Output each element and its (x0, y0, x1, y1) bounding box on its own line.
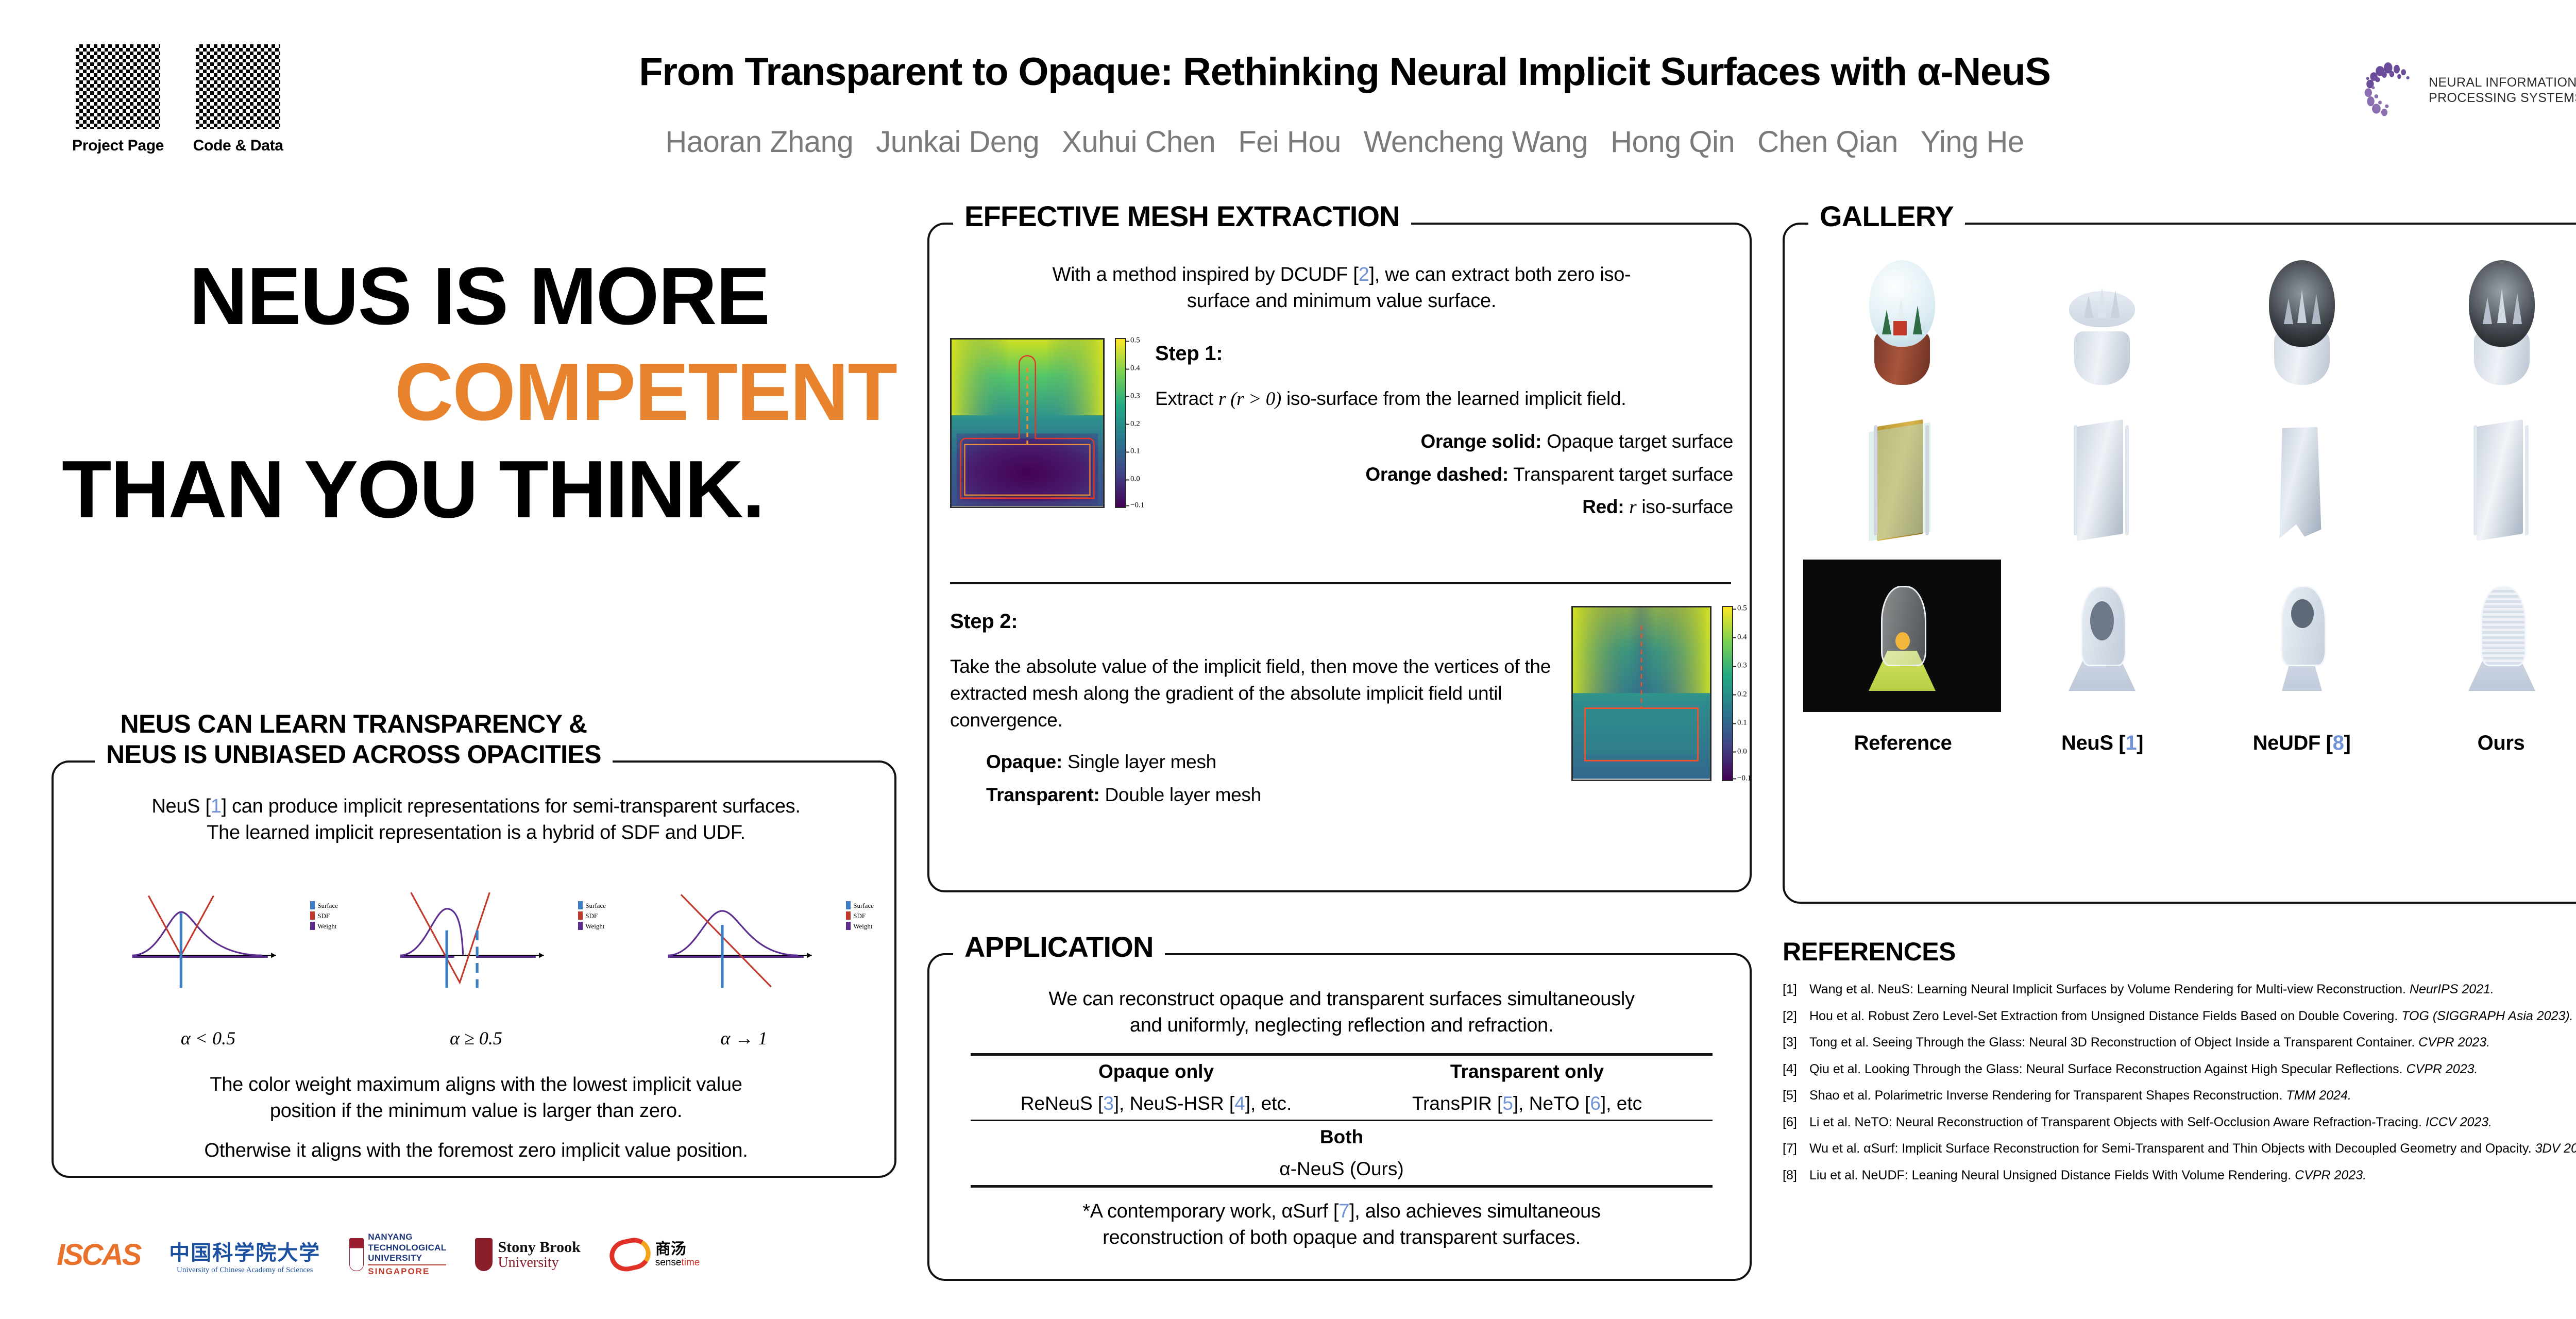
tower-glass (1869, 422, 1930, 541)
kv-val: Double layer mesh (1105, 784, 1261, 805)
globe-house (1893, 321, 1907, 335)
glass-tower-render (1863, 416, 1941, 545)
cbar-tick: 0.4 (1737, 633, 1747, 641)
logo-ucas-en: University of Chinese Academy of Science… (177, 1266, 313, 1275)
sbu-shield-icon (475, 1238, 493, 1271)
globe-mountain (2497, 289, 2506, 323)
logo-ucas-cn: 中国科学院大学 (169, 1236, 320, 1266)
glass-cup-render (2463, 571, 2540, 700)
snow-globe-render (2263, 260, 2341, 389)
kv-val: Transparent target surface (1513, 464, 1733, 485)
alpha-plot-1-svg (74, 891, 342, 994)
step-1-kv-3: Red: r iso-surface (1155, 494, 1733, 521)
reference-venue: CVPR 2023. (2295, 1168, 2366, 1182)
cbar-tick: −0.1 (1130, 501, 1144, 510)
reference-text: Liu et al. NeUDF: Leaning Neural Unsigne… (1809, 1166, 2576, 1185)
app-foot-a: *A contemporary work, αSurf [ (1082, 1200, 1338, 1222)
app-intro-line-2: and uniformly, neglecting reflection and… (965, 1012, 1718, 1039)
legend-sdf: SDF (317, 912, 330, 920)
logo-ucas: 中国科学院大学 University of Chinese Academy of… (169, 1236, 320, 1273)
sensetime-en: sensetime (655, 1258, 700, 1268)
step-1-body-a: Extract (1155, 388, 1218, 409)
gallery-label-ours: Ours (2401, 732, 2576, 755)
step-1-heading: Step 1: (1155, 339, 1733, 368)
label-text: ] (2137, 732, 2143, 754)
step-2-heatmap-wrap: 0.5 0.4 0.3 0.2 0.1 0.0 −0.1 (1571, 606, 1733, 815)
gallery-cell-globe-reference (1803, 248, 2001, 401)
table-header-row: Opaque only Transparent only (971, 1056, 1713, 1088)
glass-cup-render (2063, 571, 2141, 700)
logo-ntu: NANYANG TECHNOLOGICAL UNIVERSITY SINGAPO… (349, 1236, 446, 1273)
glass-tower-render (2263, 416, 2341, 545)
sbu-line-1: Stony Brook (498, 1239, 580, 1256)
cbar-tick: 0.5 (1737, 604, 1747, 613)
qr-code-image[interactable] (73, 41, 163, 132)
gallery-label-neus: NeuS [1] (2003, 732, 2202, 755)
step-1-heatmap (950, 338, 1105, 508)
reference-item: [6]Li et al. NeTO: Neural Reconstruction… (1783, 1113, 2576, 1132)
step-2-field-svg (1573, 607, 1710, 779)
gallery-cell-cup-neudf (2203, 560, 2401, 712)
app-intro-line-1: We can reconstruct opaque and transparen… (965, 986, 1718, 1012)
reference-venue: TOG (SIGGRAPH Asia 2023). (2401, 1009, 2573, 1023)
sensetime-en-b: time (681, 1257, 700, 1268)
gallery-cell-tower-neudf (2203, 404, 2401, 556)
kv-val: iso-surface (1636, 496, 1733, 517)
globe-tree (2284, 298, 2293, 324)
cell-text: TransPIR [ (1412, 1093, 1502, 1114)
col-header-opaque: Opaque only (1098, 1061, 1214, 1082)
author-name: Xuhui Chen (1062, 125, 1215, 159)
ntu-line-2: TECHNOLOGICAL (368, 1243, 446, 1253)
author-list: Haoran ZhangJunkai DengXuhui ChenFei Hou… (392, 125, 2298, 159)
references-list: [1]Wang et al. NeuS: Learning Neural Imp… (1783, 980, 2576, 1185)
kv-val-math: r (1629, 497, 1636, 518)
gallery-cell-tower-ours (2403, 404, 2576, 556)
gallery-cell-globe-neudf (2203, 248, 2401, 401)
step-1-heatmap-wrap: 0.5 0.4 0.3 0.2 0.1 0.0 −0.1 (950, 338, 1126, 527)
step-2-heading: Step 2: (950, 607, 1551, 636)
cbar-tick: 0.5 (1130, 336, 1140, 345)
cbar-tick: 0.3 (1130, 392, 1140, 400)
gallery-cell-cup-ours (2403, 560, 2576, 712)
application-footnote: *A contemporary work, αSurf [7], also ac… (971, 1198, 1713, 1251)
reference-item: [1]Wang et al. NeuS: Learning Neural Imp… (1783, 980, 2576, 999)
cell-transparent-methods: TransPIR [5], NeTO [6], etc (1342, 1088, 1713, 1120)
globe-base (2074, 331, 2130, 385)
label-text: NeUDF [ (2253, 732, 2333, 754)
reference-text: Tong et al. Seeing Through the Glass: Ne… (1809, 1033, 2576, 1052)
application-table: Opaque only Transparent only ReNeuS [3],… (971, 1053, 1713, 1188)
panel-mesh-title: EFFECTIVE MESH EXTRACTION (953, 202, 1411, 231)
ntu-line-1: NANYANG (368, 1232, 446, 1242)
neurips-swirl-icon (2360, 59, 2421, 121)
panel-gallery-title: GALLERY (1808, 202, 1965, 231)
headline-line-2: COMPETENT (62, 353, 896, 432)
cell-text: ReNeuS [ (1021, 1093, 1103, 1114)
panel-effective-mesh-extraction: EFFECTIVE MESH EXTRACTION With a method … (927, 223, 1752, 892)
cbar-tick: 0.4 (1130, 364, 1140, 373)
ntu-shield-icon (349, 1238, 364, 1271)
gallery-cell-tower-neus (2003, 404, 2201, 556)
step-1-kv-1: Orange solid: Opaque target surface (1155, 428, 1733, 455)
globe-tree (2084, 295, 2093, 318)
headline-line-3: THAN YOU THINK. (62, 451, 896, 529)
tower-body-degraded (2277, 419, 2323, 541)
col-header-transparent: Transparent only (1450, 1061, 1604, 1082)
mesh-intro: With a method inspired by DCUDF [2], we … (965, 262, 1718, 314)
reference-text: Shao et al. Polarimetric Inverse Renderi… (1809, 1086, 2576, 1105)
panel-transparency-title: NEUS CAN LEARN TRANSPARENCY & NEUS IS UN… (95, 709, 613, 770)
gallery-cell-globe-ours (2403, 248, 2576, 401)
snow-globe-render (1863, 260, 1941, 389)
logo-stony-brook: Stony Brook University (475, 1236, 580, 1273)
tower-post (2125, 425, 2129, 535)
foot-line-1: The color weight maximum aligns with the… (210, 1074, 742, 1095)
gallery-label-reference: Reference (1803, 732, 2003, 755)
transparency-intro: NeuS [1] can produce implicit representa… (84, 793, 868, 846)
kv-key: Orange dashed: (1365, 464, 1508, 485)
step-1-body-math: r (r > 0) (1218, 388, 1281, 410)
citation-5[interactable]: 5 (1502, 1093, 1513, 1114)
globe-tree (1882, 310, 1891, 334)
app-foot-line-2: reconstruction of both opaque and transp… (971, 1225, 1713, 1251)
legend-surface: Surface (585, 902, 606, 909)
gallery-cell-cup-neus (2003, 560, 2201, 712)
gallery-cell-tower-reference (1803, 404, 2001, 556)
step-1-block: 0.5 0.4 0.3 0.2 0.1 0.0 −0.1 Step 1: Ext… (950, 338, 1733, 527)
alpha-regime-plots: Surface SDF Weight α < 0.5 Surface SDF W… (74, 891, 878, 1046)
headline-line-1: NEUS IS MORE (62, 258, 896, 336)
transparency-footnotes: The color weight maximum aligns with the… (84, 1072, 868, 1177)
reference-number: [4] (1783, 1060, 1809, 1079)
legend-weight: Weight (853, 922, 872, 930)
cup-body (1881, 586, 1926, 666)
cup-interior-artifact (2090, 601, 2114, 640)
alpha-plot-1: Surface SDF Weight α < 0.5 (74, 891, 342, 1046)
glass-cup-render (1863, 571, 1941, 700)
tower-body (2077, 419, 2123, 541)
alpha-plot-3-svg (610, 891, 878, 994)
citation-3[interactable]: 3 (1103, 1093, 1114, 1114)
glass-tower-render (2063, 416, 2141, 545)
reference-item: [8]Liu et al. NeUDF: Leaning Neural Unsi… (1783, 1166, 2576, 1185)
reference-item: [4]Qiu et al. Looking Through the Glass:… (1783, 1060, 2576, 1079)
reference-number: [2] (1783, 1007, 1809, 1026)
globe-tree (2111, 290, 2120, 318)
panel-gallery: GALLERY (1783, 223, 2576, 904)
citation-6[interactable]: 6 (1590, 1093, 1601, 1114)
step-2-heatmap (1571, 606, 1711, 781)
logo-iscas: ISCAS (57, 1236, 140, 1273)
alpha-plot-2-caption: α ≥ 0.5 (342, 1027, 610, 1049)
legend-weight: Weight (317, 922, 336, 930)
qr-code-and-data[interactable]: Code & Data (193, 41, 283, 155)
alpha-plot-3: Surface SDF Weight α → 1 (610, 891, 878, 1046)
gallery-cell-globe-neus (2003, 248, 2201, 401)
author-name: Wencheng Wang (1364, 125, 1588, 159)
author-name: Junkai Deng (876, 125, 1039, 159)
kv-key: Opaque: (986, 751, 1062, 772)
step-1-colorbar: 0.5 0.4 0.3 0.2 0.1 0.0 −0.1 (1115, 338, 1126, 508)
author-name: Chen Qian (1757, 125, 1898, 159)
alpha-plot-legend: Surface SDF Weight (578, 901, 606, 932)
kv-key: Transparent: (986, 784, 1100, 805)
author-name: Hong Qin (1611, 125, 1735, 159)
table-value-row: ReNeuS [3], NeuS-HSR [4], etc. TransPIR … (971, 1088, 1713, 1120)
step-2-kv-1: Opaque: Single layer mesh (950, 749, 1551, 775)
table-both-value: α-NeuS (Ours) (971, 1153, 1713, 1185)
step-1-text: Step 1: Extract r (r > 0) iso-surface fr… (1126, 338, 1733, 527)
qr-project-page[interactable]: Project Page (72, 41, 164, 155)
tower-post (1874, 425, 1877, 535)
legend-sdf: SDF (585, 912, 598, 920)
qr-code-image[interactable] (193, 41, 283, 132)
intro-text-b: ] can produce implicit representations f… (222, 796, 801, 817)
application-intro: We can reconstruct opaque and transparen… (965, 986, 1718, 1039)
qr-code-block: Project Page Code & Data (72, 41, 289, 155)
reference-text: Li et al. NeTO: Neural Reconstruction of… (1809, 1113, 2576, 1132)
transparency-title-line-1: NEUS CAN LEARN TRANSPARENCY & (106, 709, 601, 739)
cbar-tick: 0.2 (1737, 690, 1747, 699)
reference-item: [7]Wu et al. αSurf: Implicit Surface Rec… (1783, 1139, 2576, 1158)
author-name: Fei Hou (1238, 125, 1341, 159)
cup-interior-artifact (2291, 599, 2314, 628)
mesh-divider (950, 582, 1731, 584)
alpha-plot-3-caption: α → 1 (610, 1027, 878, 1049)
globe-tree (2513, 293, 2522, 324)
gallery-label-neudf: NeUDF [8] (2202, 732, 2401, 755)
table-rule-bottom (971, 1185, 1713, 1188)
legend-surface: Surface (853, 902, 874, 909)
step-2-kv-2: Transparent: Double layer mesh (950, 782, 1551, 808)
glass-cup-render (2263, 571, 2341, 700)
panel-transparency: NEUS CAN LEARN TRANSPARENCY & NEUS IS UN… (52, 760, 896, 1178)
tower-post (2473, 425, 2477, 535)
reference-number: [7] (1783, 1139, 1809, 1158)
label-text: Reference (1854, 732, 1952, 754)
tower-post (1925, 425, 1929, 535)
legend-sdf: SDF (853, 912, 866, 920)
cell-opaque-methods: ReNeuS [3], NeuS-HSR [4], etc. (971, 1088, 1342, 1120)
ntu-line-3: UNIVERSITY (368, 1253, 446, 1263)
reference-text: Wu et al. αSurf: Implicit Surface Recons… (1809, 1139, 2576, 1158)
cup-candle (1895, 632, 1910, 650)
step-1-field-svg (952, 340, 1103, 506)
sensetime-en-a: sense (655, 1257, 682, 1268)
logo-iscas-text: ISCAS (57, 1238, 140, 1272)
alpha-plot-legend: Surface SDF Weight (846, 901, 874, 932)
logo-sbu-text: Stony Brook University (498, 1239, 580, 1271)
cell-text: ], NeTO [ (1513, 1093, 1590, 1114)
kv-key: Orange solid: (1421, 431, 1542, 452)
reference-venue: 3DV 2025. (2535, 1141, 2576, 1156)
qr-caption: Project Page (72, 137, 164, 155)
reference-number: [1] (1783, 980, 1809, 999)
cbar-tick: 0.0 (1130, 475, 1140, 484)
citation-4[interactable]: 4 (1234, 1093, 1245, 1114)
label-text: Ours (2478, 732, 2525, 754)
kv-key: Red: (1582, 496, 1624, 517)
app-foot-b: ], also achieves simultaneous (1349, 1200, 1601, 1222)
neurips-line2: PROCESSING SYSTEMS (2429, 90, 2576, 106)
alpha-plot-2-svg (342, 891, 610, 994)
alpha-plot-1-caption: α < 0.5 (74, 1027, 342, 1049)
step-2-block: Step 2: Take the absolute value of the i… (950, 606, 1733, 815)
panel-application: APPLICATION We can reconstruct opaque an… (927, 953, 1752, 1281)
glass-tower-render (2463, 416, 2540, 545)
cbar-tick: 0.0 (1737, 747, 1747, 756)
headline-block: NEUS IS MORE COMPETENT THAN YOU THINK. (62, 258, 896, 529)
logo-sensetime-text: 商汤 sensetime (655, 1241, 700, 1267)
author-name: Haoran Zhang (665, 125, 853, 159)
kv-val: Opaque target surface (1547, 431, 1733, 452)
reference-number: [6] (1783, 1113, 1809, 1132)
intro-line-2: The learned implicit representation is a… (84, 820, 868, 846)
sbu-line-2: University (498, 1255, 580, 1270)
globe-tree (1913, 306, 1922, 334)
table-both-header: Both (971, 1121, 1713, 1153)
reference-venue: TMM 2024. (2286, 1088, 2351, 1103)
legend-weight: Weight (585, 922, 604, 930)
step-2-text: Step 2: Take the absolute value of the i… (950, 606, 1571, 815)
cbar-tick: 0.1 (1737, 719, 1747, 728)
alpha-plot-legend: Surface SDF Weight (310, 901, 338, 932)
qr-caption: Code & Data (193, 137, 283, 155)
ntu-line-4: SINGAPORE (368, 1264, 446, 1277)
citation-1[interactable]: 1 (211, 796, 222, 817)
snow-globe-render (2463, 260, 2540, 389)
reference-number: [3] (1783, 1033, 1809, 1052)
reference-venue: NeurIPS 2021. (2410, 982, 2494, 996)
reference-number: [5] (1783, 1086, 1809, 1105)
neurips-line1: NEURAL INFORMATION (2429, 75, 2576, 91)
author-name: Ying He (1921, 125, 2024, 159)
panel-application-title: APPLICATION (953, 933, 1165, 961)
reference-venue: ICCV 2023. (2426, 1115, 2492, 1129)
alpha-plot-2: Surface SDF Weight α ≥ 0.5 (342, 891, 610, 1046)
sensetime-infinity-icon (606, 1235, 653, 1274)
intro-text-a: NeuS [ (151, 796, 210, 817)
affiliation-logos: ISCAS 中国科学院大学 University of Chinese Acad… (57, 1226, 902, 1283)
transparency-foot-p1: The color weight maximum aligns with the… (84, 1072, 868, 1124)
step-1-body-b: iso-surface from the learned implicit fi… (1281, 388, 1626, 409)
tower-post (2525, 425, 2529, 535)
cup-body-layered (2481, 586, 2526, 666)
gallery-grid (1803, 248, 2576, 712)
label-text: NeuS [ (2061, 732, 2125, 754)
citation-8[interactable]: 8 (2333, 732, 2344, 754)
gallery-cell-cup-reference (1803, 560, 2001, 712)
step-1-kv-2: Orange dashed: Transparent target surfac… (1155, 461, 1733, 488)
gallery-column-labels: Reference NeuS [1] NeUDF [8] Ours (1803, 732, 2576, 755)
reference-number: [8] (1783, 1166, 1809, 1185)
step-2-body: Take the absolute value of the implicit … (950, 653, 1551, 733)
both-header-text: Both (1320, 1126, 1363, 1147)
sensetime-cn: 商汤 (655, 1241, 700, 1258)
logo-ntu-text: NANYANG TECHNOLOGICAL UNIVERSITY SINGAPO… (368, 1232, 446, 1277)
citation-2[interactable]: 2 (1359, 264, 1369, 285)
transparency-title-line-2: NEUS IS UNBIASED ACROSS OPACITIES (106, 739, 601, 770)
mesh-intro-a: With a method inspired by DCUDF [ (1053, 264, 1359, 285)
snow-globe-render (2063, 260, 2141, 389)
references-section: REFERENCES [1]Wang et al. NeuS: Learning… (1783, 937, 2576, 1192)
reference-text: Hou et al. Robust Zero Level-Set Extract… (1809, 1007, 2576, 1026)
globe-mountain (2297, 290, 2307, 323)
reference-item: [3]Tong et al. Seeing Through the Glass:… (1783, 1033, 2576, 1052)
references-title: REFERENCES (1783, 937, 2576, 967)
step-2-colorbar: 0.5 0.4 0.3 0.2 0.1 0.0 −0.1 (1722, 606, 1733, 781)
tower-post (2074, 425, 2077, 535)
cell-text: ], etc. (1245, 1093, 1292, 1114)
neurips-logo-text: NEURAL INFORMATION PROCESSING SYSTEMS (2429, 75, 2576, 106)
step-1-body: Extract r (r > 0) iso-surface from the l… (1155, 385, 1733, 413)
cbar-tick: 0.1 (1130, 447, 1140, 456)
legend-surface: Surface (317, 902, 338, 909)
cbar-tick: 0.2 (1130, 419, 1140, 428)
globe-tree (2312, 294, 2321, 324)
reference-item: [5]Shao et al. Polarimetric Inverse Rend… (1783, 1086, 2576, 1105)
label-text: ] (2344, 732, 2350, 754)
cell-text: ], etc (1601, 1093, 1642, 1114)
reference-venue: CVPR 2023. (2406, 1062, 2478, 1076)
reference-text: Qiu et al. Looking Through the Glass: Ne… (1809, 1060, 2576, 1079)
transparency-foot-p2: Otherwise it aligns with the foremost ze… (84, 1138, 868, 1164)
cbar-tick: −0.1 (1737, 774, 1751, 783)
reference-item: [2]Hou et al. Robust Zero Level-Set Extr… (1783, 1007, 2576, 1026)
kv-val: Single layer mesh (1067, 751, 1216, 772)
foot-line-2: position if the minimum value is larger … (270, 1100, 682, 1122)
reference-text: Wang et al. NeuS: Learning Neural Implic… (1809, 980, 2576, 999)
tower-body (2477, 419, 2523, 541)
citation-1[interactable]: 1 (2125, 732, 2137, 754)
citation-7[interactable]: 7 (1338, 1200, 1349, 1222)
globe-tree (2483, 297, 2492, 324)
globe-mountain (2097, 287, 2107, 318)
cell-text: ], NeuS-HSR [ (1114, 1093, 1234, 1114)
mesh-intro-line-2: surface and minimum value surface. (965, 288, 1718, 314)
reference-venue: CVPR 2023. (2418, 1035, 2490, 1050)
mesh-intro-b: ], we can extract both zero iso- (1369, 264, 1631, 285)
logo-sensetime: 商汤 sensetime (609, 1236, 700, 1273)
cbar-tick: 0.3 (1737, 662, 1747, 670)
page-title: From Transparent to Opaque: Rethinking N… (392, 52, 2298, 93)
neurips-logo: NEURAL INFORMATION PROCESSING SYSTEMS (2360, 52, 2576, 129)
